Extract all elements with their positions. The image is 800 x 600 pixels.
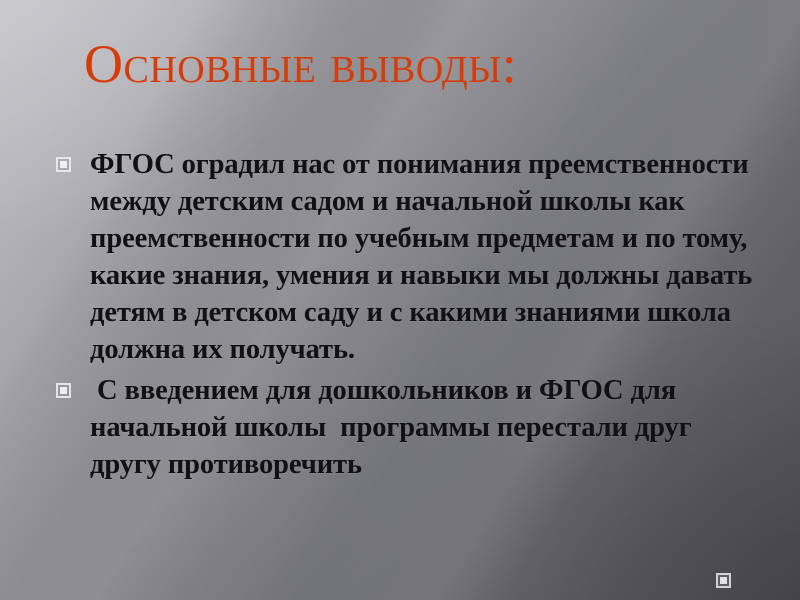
- square-bullet-icon: [56, 157, 71, 172]
- slide-body-content: ФГОС оградил нас от понимания преемствен…: [48, 146, 768, 487]
- bullet-item: ФГОС оградил нас от понимания преемствен…: [48, 146, 768, 368]
- bullet-item-text: С введением для дошкольников и ФГОС для …: [90, 372, 768, 483]
- bullet-item-text: ФГОС оградил нас от понимания преемствен…: [90, 146, 768, 368]
- bullet-item: С введением для дошкольников и ФГОС для …: [48, 372, 768, 483]
- slide-title: Основные выводы:: [84, 34, 764, 94]
- square-bullet-icon: [56, 383, 71, 398]
- presentation-slide: Основные выводы: ФГОС оградил нас от пон…: [0, 0, 800, 600]
- empty-square-bullet-icon: [716, 573, 731, 588]
